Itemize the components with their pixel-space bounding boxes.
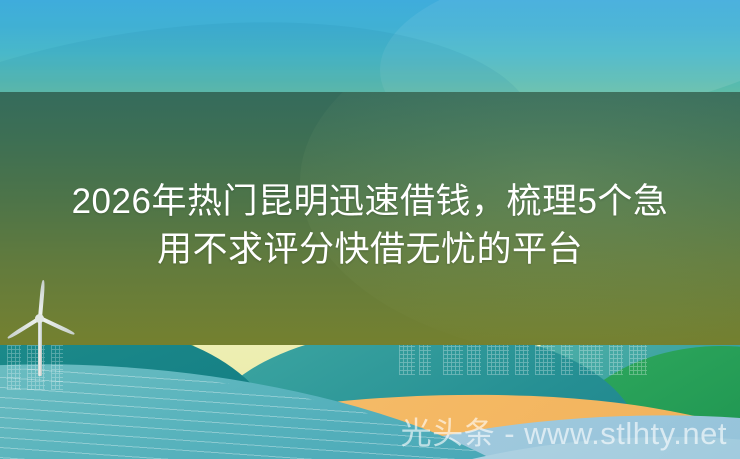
turbine-mast bbox=[38, 318, 42, 376]
sky-band bbox=[0, 0, 740, 92]
turbine-hub bbox=[35, 314, 44, 323]
turbine-blade bbox=[39, 316, 75, 336]
watermark-text: 光头条 - www.stlhty.net bbox=[401, 416, 727, 452]
page-title: 2026年热门昆明迅速借钱，梳理5个急 用不求评分快借无忧的平台 bbox=[0, 178, 740, 274]
title-line-2: 用不求评分快借无忧的平台 bbox=[0, 226, 740, 274]
wind-turbine bbox=[2, 292, 88, 376]
banner-image: 2026年热门昆明迅速借钱，梳理5个急 用不求评分快借无忧的平台 光头条 - w… bbox=[0, 0, 740, 459]
title-line-1: 2026年热门昆明迅速借钱，梳理5个急 bbox=[0, 178, 740, 226]
